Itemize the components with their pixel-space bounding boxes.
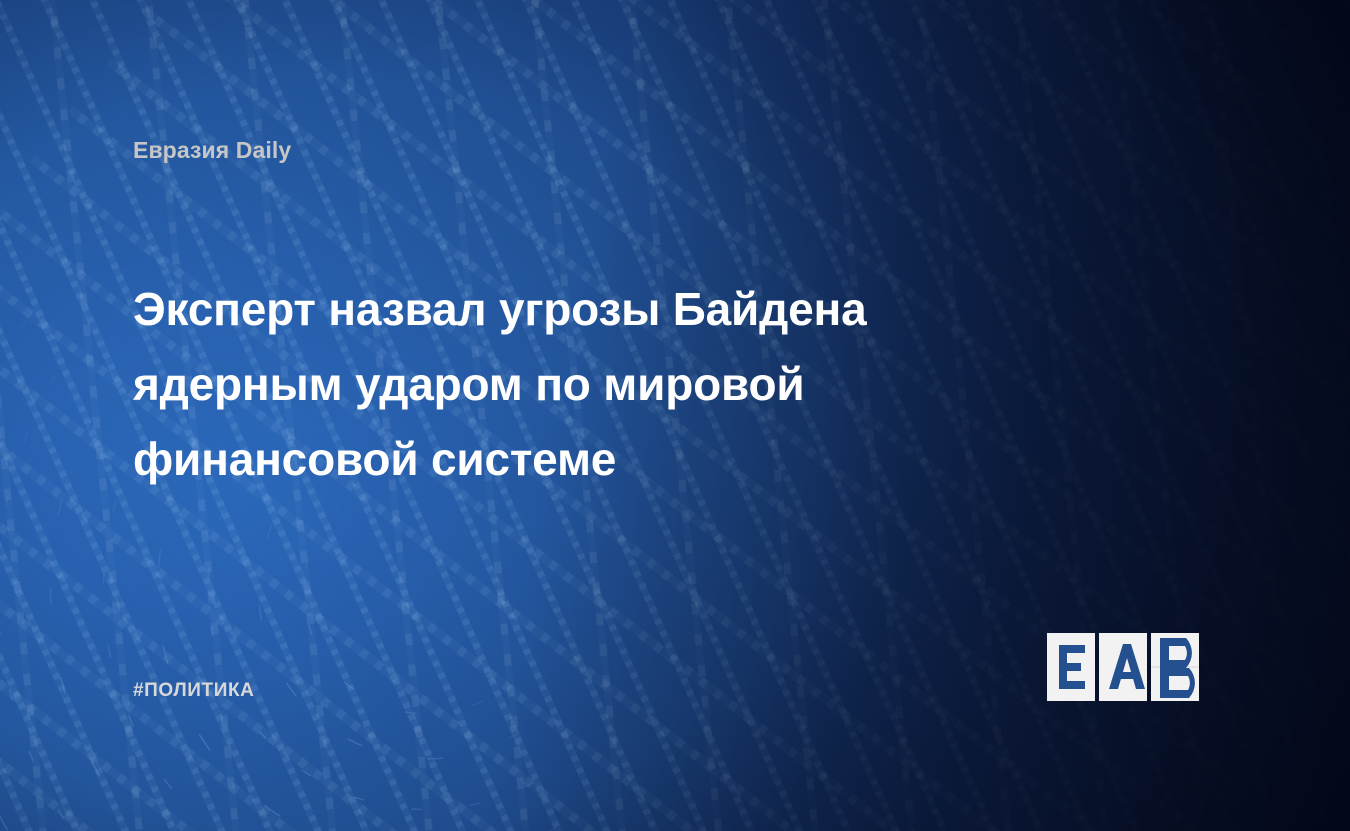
ead-logo <box>1046 632 1226 702</box>
category-tag[interactable]: #ПОЛИТИКА <box>133 680 255 702</box>
site-name: Евразия Daily <box>133 137 291 164</box>
news-share-card: Евразия Daily Эксперт назвал угрозы Байд… <box>0 0 1350 831</box>
page-title: Эксперт назвал угрозы Байдена ядерным уд… <box>133 272 1033 497</box>
card-content: Евразия Daily Эксперт назвал угрозы Байд… <box>0 0 1350 831</box>
